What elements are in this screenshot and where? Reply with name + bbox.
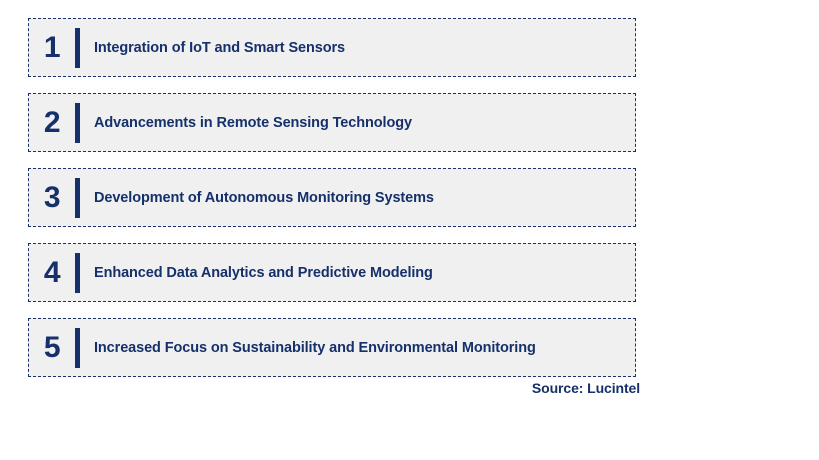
emerging-trends-panel: 1 Integration of IoT and Smart Sensors 2… bbox=[0, 0, 819, 460]
trend-label: Enhanced Data Analytics and Predictive M… bbox=[94, 265, 433, 281]
trend-label: Integration of IoT and Smart Sensors bbox=[94, 40, 345, 56]
list-item[interactable]: 1 Integration of IoT and Smart Sensors bbox=[28, 18, 636, 77]
rank-number: 5 bbox=[29, 333, 75, 363]
rank-divider bbox=[75, 28, 80, 68]
rank-divider bbox=[75, 253, 80, 293]
rank-divider bbox=[75, 103, 80, 143]
rank-divider bbox=[75, 178, 80, 218]
list-item[interactable]: 2 Advancements in Remote Sensing Technol… bbox=[28, 93, 636, 152]
rank-number: 2 bbox=[29, 108, 75, 138]
trend-list: 1 Integration of IoT and Smart Sensors 2… bbox=[28, 18, 636, 393]
trend-label: Increased Focus on Sustainability and En… bbox=[94, 340, 536, 356]
rank-number: 3 bbox=[29, 183, 75, 213]
list-item[interactable]: 5 Increased Focus on Sustainability and … bbox=[28, 318, 636, 377]
trend-label: Advancements in Remote Sensing Technolog… bbox=[94, 115, 412, 131]
source-attribution: Source: Lucintel bbox=[0, 380, 640, 396]
trend-label: Development of Autonomous Monitoring Sys… bbox=[94, 190, 434, 206]
rank-number: 1 bbox=[29, 33, 75, 63]
list-item[interactable]: 4 Enhanced Data Analytics and Predictive… bbox=[28, 243, 636, 302]
rank-number: 4 bbox=[29, 258, 75, 288]
list-item[interactable]: 3 Development of Autonomous Monitoring S… bbox=[28, 168, 636, 227]
rank-divider bbox=[75, 328, 80, 368]
